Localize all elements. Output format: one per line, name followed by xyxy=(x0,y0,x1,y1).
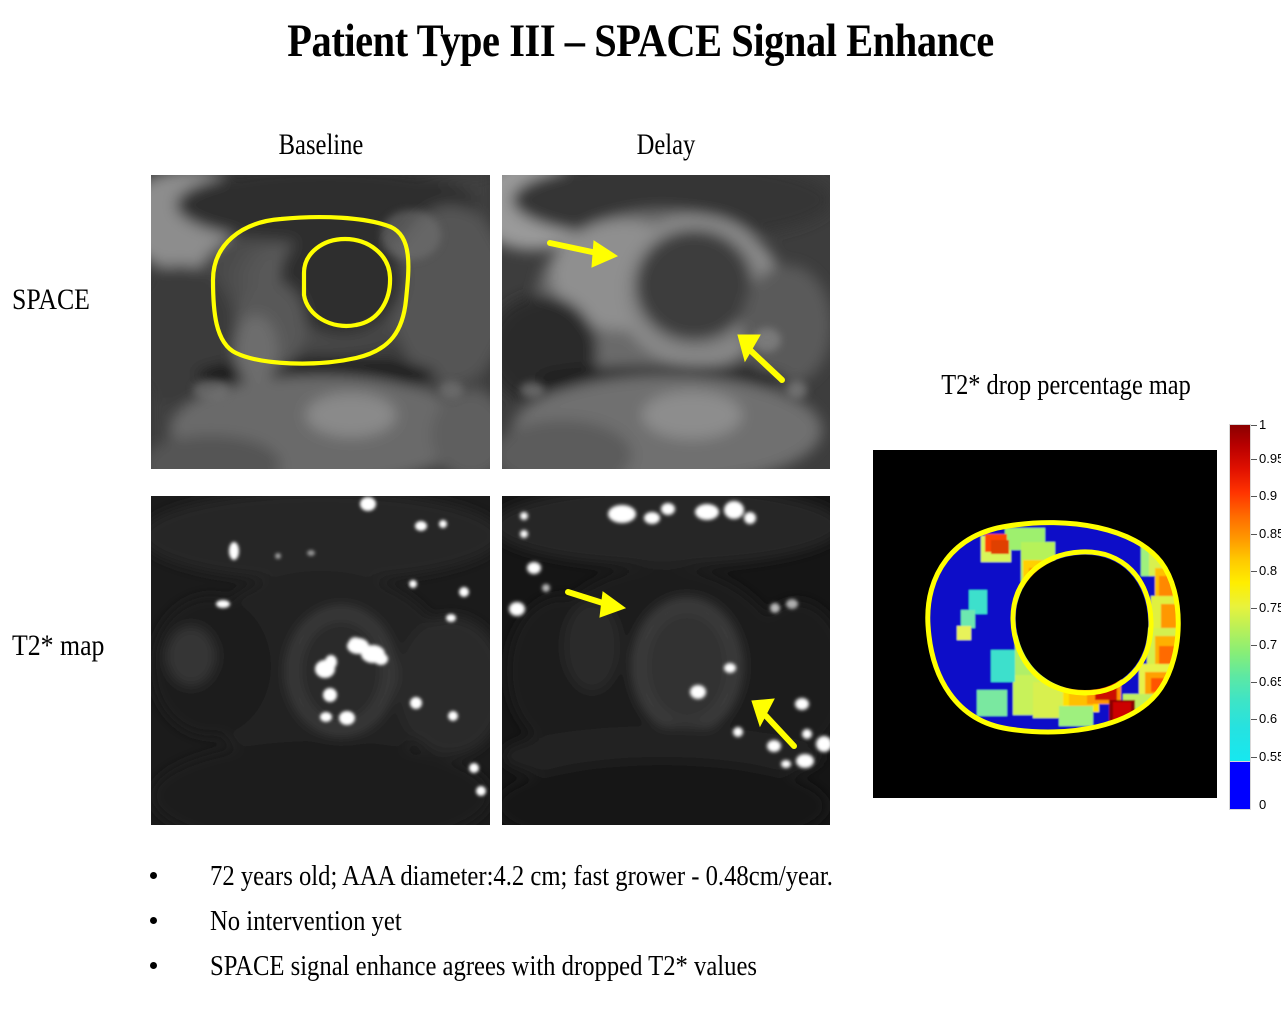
colorbar-tick xyxy=(1251,608,1257,609)
bullet-dot-icon xyxy=(150,917,157,924)
colorbar-label-09: 0.9 xyxy=(1259,490,1277,502)
bullet-text-1: 72 years old; AAA diameter:4.2 cm; fast … xyxy=(210,860,833,893)
bullet-text-2: No intervention yet xyxy=(210,905,402,938)
colorbar-label-075: 0.75 xyxy=(1259,602,1281,614)
colorbar-label-1: 1 xyxy=(1259,419,1266,431)
page-title: Patient Type III – SPACE Signal Enhance xyxy=(90,14,1192,68)
bullet-list: 72 years old; AAA diameter:4.2 cm; fast … xyxy=(150,862,1150,997)
bullet-dot-icon xyxy=(150,872,157,879)
colorbar-tick xyxy=(1251,459,1257,460)
colorbar-label-095: 0.95 xyxy=(1259,453,1281,465)
colorbar-label-08: 0.8 xyxy=(1259,565,1277,577)
colorbar-label-07: 0.7 xyxy=(1259,639,1277,651)
colorbar-tick xyxy=(1251,534,1257,535)
bullet-item-2: No intervention yet xyxy=(150,907,1150,952)
column-header-delay: Delay xyxy=(532,128,801,162)
map-heading: T2* drop percentage map xyxy=(898,369,1234,402)
colorbar-label-065: 0.65 xyxy=(1259,676,1281,688)
colorbar-tick xyxy=(1251,682,1257,683)
colorbar: 1 0.95 0.9 0.85 0.8 0.75 0.7 0.65 0.6 0.… xyxy=(1229,424,1281,814)
colorbar-tick xyxy=(1251,757,1257,758)
bullet-dot-icon xyxy=(150,962,157,969)
colorbar-tick xyxy=(1251,425,1257,426)
row-label-t2-map: T2* map xyxy=(12,629,104,663)
bullet-text-3: SPACE signal enhance agrees with dropped… xyxy=(210,950,757,983)
bullet-item-3: SPACE signal enhance agrees with dropped… xyxy=(150,952,1150,997)
colorbar-label-085: 0.85 xyxy=(1259,528,1281,540)
colorbar-tick xyxy=(1251,571,1257,572)
mri-panel-t2map-baseline xyxy=(151,496,490,825)
colorbar-label-055: 0.55 xyxy=(1259,751,1281,763)
colorbar-tick xyxy=(1251,719,1257,720)
bullet-item-1: 72 years old; AAA diameter:4.2 cm; fast … xyxy=(150,862,1150,907)
colorbar-label-06: 0.6 xyxy=(1259,713,1277,725)
t2-drop-percentage-map xyxy=(873,450,1217,798)
mri-panel-space-delay xyxy=(502,175,830,469)
colorbar-gradient xyxy=(1229,424,1251,762)
colorbar-tick xyxy=(1251,645,1257,646)
row-label-space: SPACE xyxy=(12,283,90,317)
colorbar-below-threshold-block xyxy=(1229,762,1251,810)
column-header-baseline: Baseline xyxy=(182,128,461,162)
mri-panel-space-baseline xyxy=(151,175,490,469)
colorbar-label-0: 0 xyxy=(1259,799,1266,811)
lumen-interior xyxy=(1016,555,1148,690)
slide-canvas: Patient Type III – SPACE Signal Enhance … xyxy=(0,0,1281,1015)
mri-panel-t2map-delay xyxy=(502,496,830,825)
colorbar-tick xyxy=(1251,496,1257,497)
